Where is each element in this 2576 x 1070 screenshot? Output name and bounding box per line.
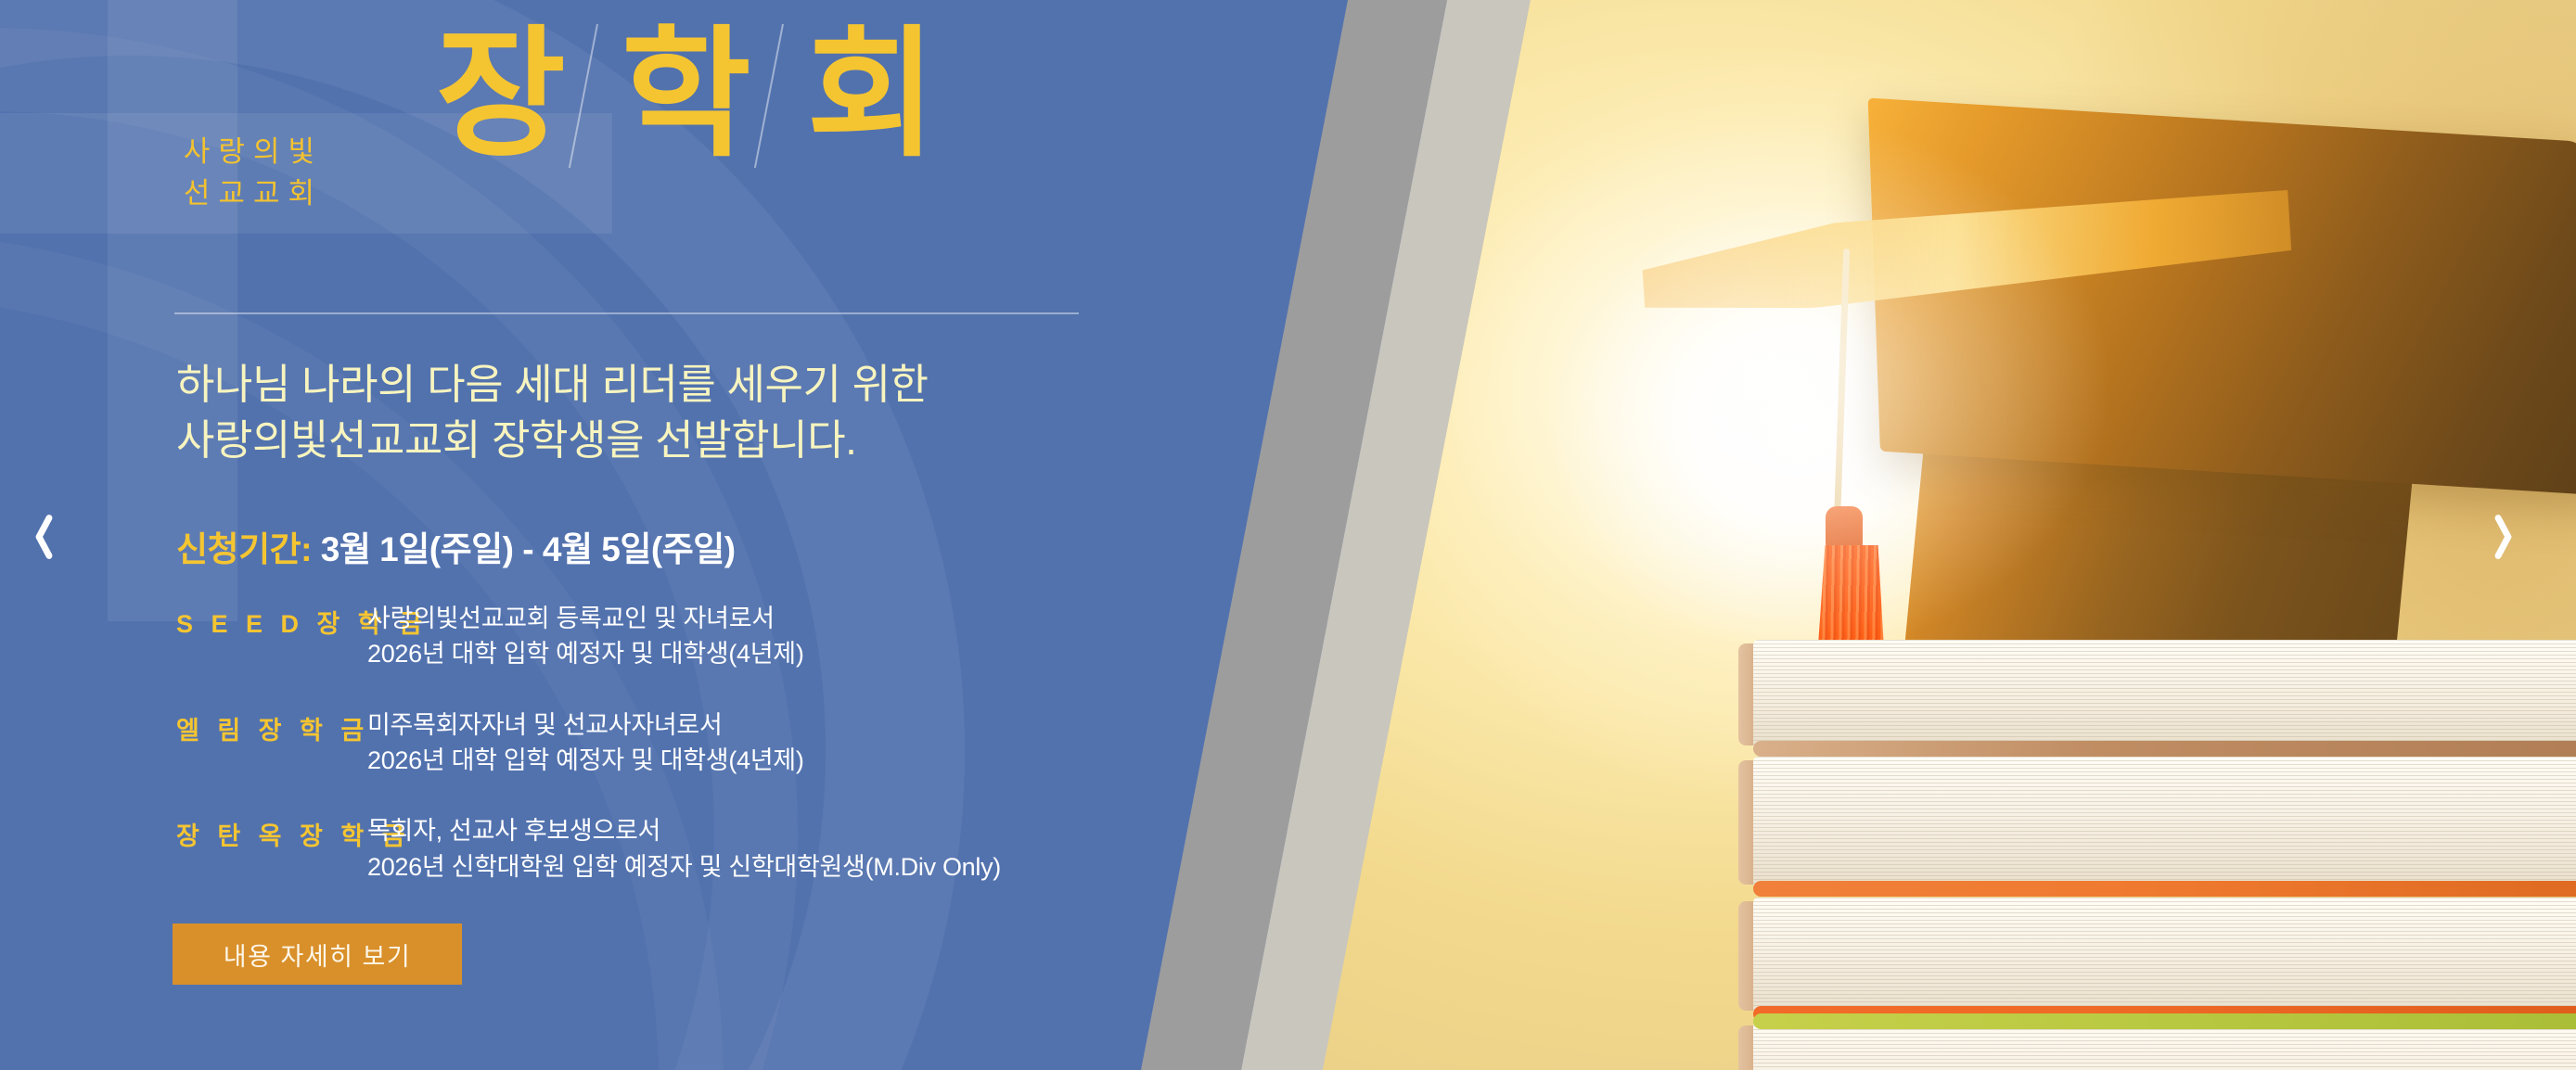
scholarship-name: S E E D 장 학 금 xyxy=(176,601,367,640)
scholarship-name: 엘 림 장 학 금 xyxy=(176,707,367,746)
list-item: S E E D 장 학 금 사랑의빛선교교회 등록교인 및 자녀로서 2026년… xyxy=(176,601,1122,672)
church-logo-text: 사랑의빛 선교교회 xyxy=(184,132,323,215)
title-separator-2 xyxy=(757,24,807,171)
application-period-label: 신청기간: xyxy=(176,530,312,568)
scholarship-hero-banner: 사랑의빛 선교교회 장 학 회 하나님 나라의 다음 세대 리더를 세우기 위한… xyxy=(0,0,2576,1070)
book-pages xyxy=(1753,898,2576,1014)
book-spine xyxy=(1753,881,2576,897)
lead-paragraph: 하나님 나라의 다음 세대 리더를 세우기 위한 사랑의빛선교교회 장학생을 선… xyxy=(176,357,929,468)
scholarship-description: 미주목회자자녀 및 선교사자녀로서 2026년 대학 입학 예정자 및 대학생(… xyxy=(367,707,804,779)
book-item xyxy=(1753,1022,2576,1070)
book-item xyxy=(1753,898,2576,1014)
book-item xyxy=(1753,757,2576,888)
list-item: 장 탄 옥 장 학 금 목회자, 선교사 후보생으로서 2026년 신학대학원 … xyxy=(176,813,1122,885)
title-char-3: 회 xyxy=(807,24,942,165)
book-spine xyxy=(1753,1013,2576,1029)
cap-mortarboard xyxy=(1868,98,2576,496)
view-details-button[interactable]: 내용 자세히 보기 xyxy=(173,924,462,985)
book-stack xyxy=(1753,640,2576,1070)
chevron-right-icon xyxy=(2498,512,2524,558)
scholarship-name: 장 탄 옥 장 학 금 xyxy=(176,813,367,852)
title-separator-1 xyxy=(571,24,622,171)
book-pages xyxy=(1753,757,2576,888)
title-divider xyxy=(174,312,1079,314)
chevron-left-icon xyxy=(26,512,52,558)
title-char-2: 학 xyxy=(622,24,757,165)
page-title: 장 학 회 xyxy=(436,24,942,171)
church-logo: 사랑의빛 선교교회 xyxy=(0,113,343,234)
application-period-value: 3월 1일(주일) - 4월 5일(주일) xyxy=(312,530,736,568)
scholarship-description: 사랑의빛선교교회 등록교인 및 자녀로서 2026년 대학 입학 예정자 및 대… xyxy=(367,601,804,672)
application-period: 신청기간: 3월 1일(주일) - 4월 5일(주일) xyxy=(176,521,736,571)
title-char-1: 장 xyxy=(436,24,571,165)
book-pages xyxy=(1753,640,2576,749)
book-item xyxy=(1753,640,2576,749)
carousel-prev-button[interactable] xyxy=(4,490,74,580)
list-item: 엘 림 장 학 금 미주목회자자녀 및 선교사자녀로서 2026년 대학 입학 … xyxy=(176,707,1122,779)
carousel-next-button[interactable] xyxy=(2476,490,2546,580)
book-spine xyxy=(1753,741,2576,757)
scholarship-list: S E E D 장 학 금 사랑의빛선교교회 등록교인 및 자녀로서 2026년… xyxy=(176,601,1122,920)
scholarship-description: 목회자, 선교사 후보생으로서 2026년 신학대학원 입학 예정자 및 신학대… xyxy=(367,813,1001,885)
graduation-cap-icon xyxy=(1642,100,2576,694)
